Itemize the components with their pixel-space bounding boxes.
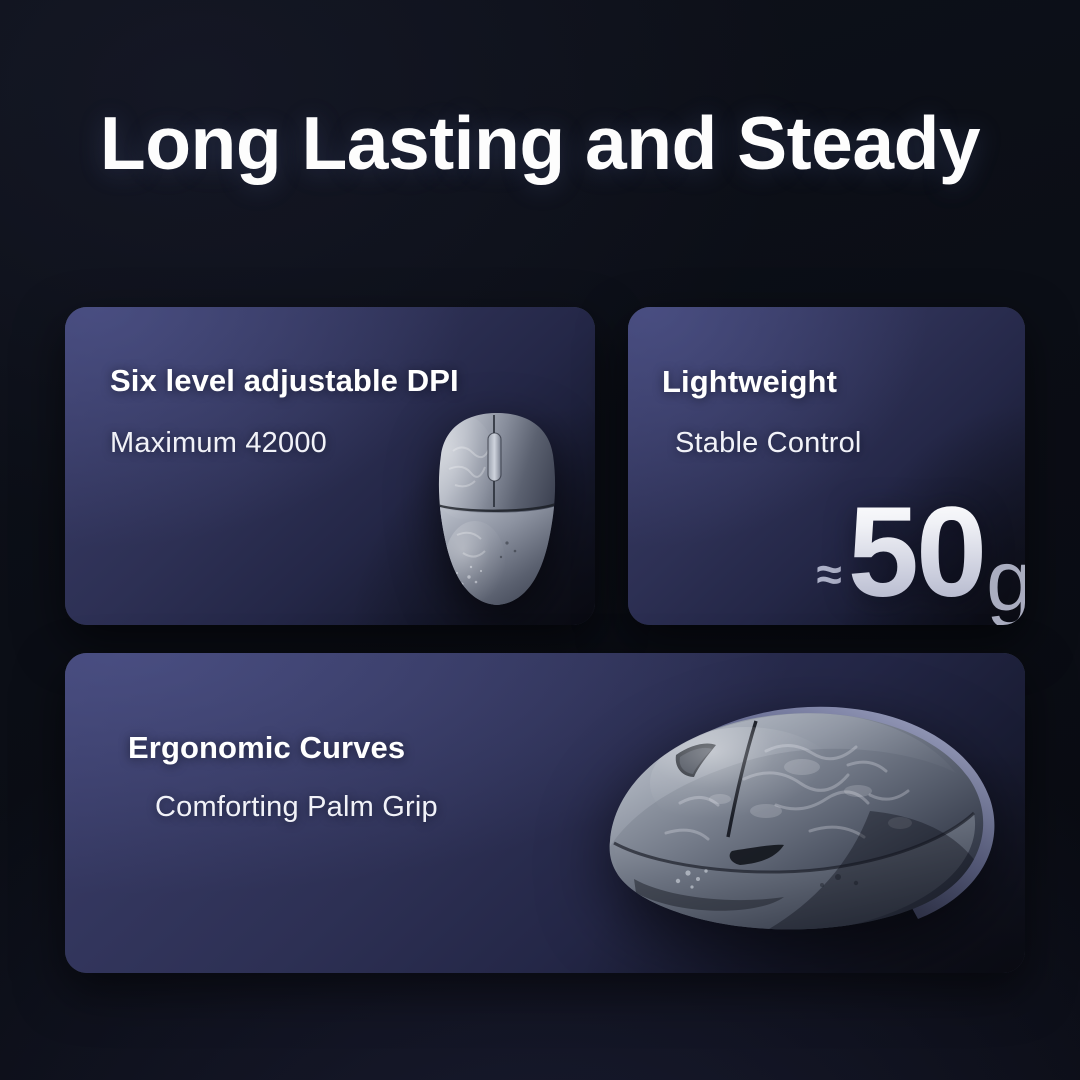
card-subtitle-dpi: Maximum 42000 bbox=[110, 427, 327, 460]
gaming-mouse-top-view-image bbox=[423, 411, 571, 607]
card-subtitle-lightweight: Stable Control bbox=[675, 427, 862, 460]
feature-card-lightweight: Lightweight Stable Control ≈ 50 g bbox=[628, 307, 1025, 625]
card-content-ergonomics: Ergonomic Curves Comforting Palm Grip bbox=[65, 653, 1025, 973]
card-title-dpi: Six level adjustable DPI bbox=[110, 363, 459, 399]
gaming-mouse-perspective-view-image bbox=[570, 691, 1020, 953]
feature-card-dpi: Six level adjustable DPI Maximum 42000 bbox=[65, 307, 595, 625]
page-title: Long Lasting and Steady bbox=[0, 104, 1080, 182]
card-content-dpi: Six level adjustable DPI Maximum 42000 bbox=[65, 307, 595, 625]
weight-unit: g bbox=[986, 538, 1025, 624]
weight-readout: ≈ 50 g bbox=[817, 489, 1025, 617]
card-title-lightweight: Lightweight bbox=[662, 364, 837, 400]
feature-card-ergonomics: Ergonomic Curves Comforting Palm Grip bbox=[65, 653, 1025, 973]
card-content-lightweight: Lightweight Stable Control ≈ 50 g bbox=[628, 307, 1025, 625]
card-title-ergonomics: Ergonomic Curves bbox=[128, 730, 405, 766]
product-feature-banner: Long Lasting and Steady Six level adjust… bbox=[0, 0, 1080, 1080]
approximately-icon: ≈ bbox=[817, 551, 842, 597]
card-subtitle-ergonomics: Comforting Palm Grip bbox=[155, 791, 438, 824]
weight-value: 50 bbox=[848, 489, 984, 617]
